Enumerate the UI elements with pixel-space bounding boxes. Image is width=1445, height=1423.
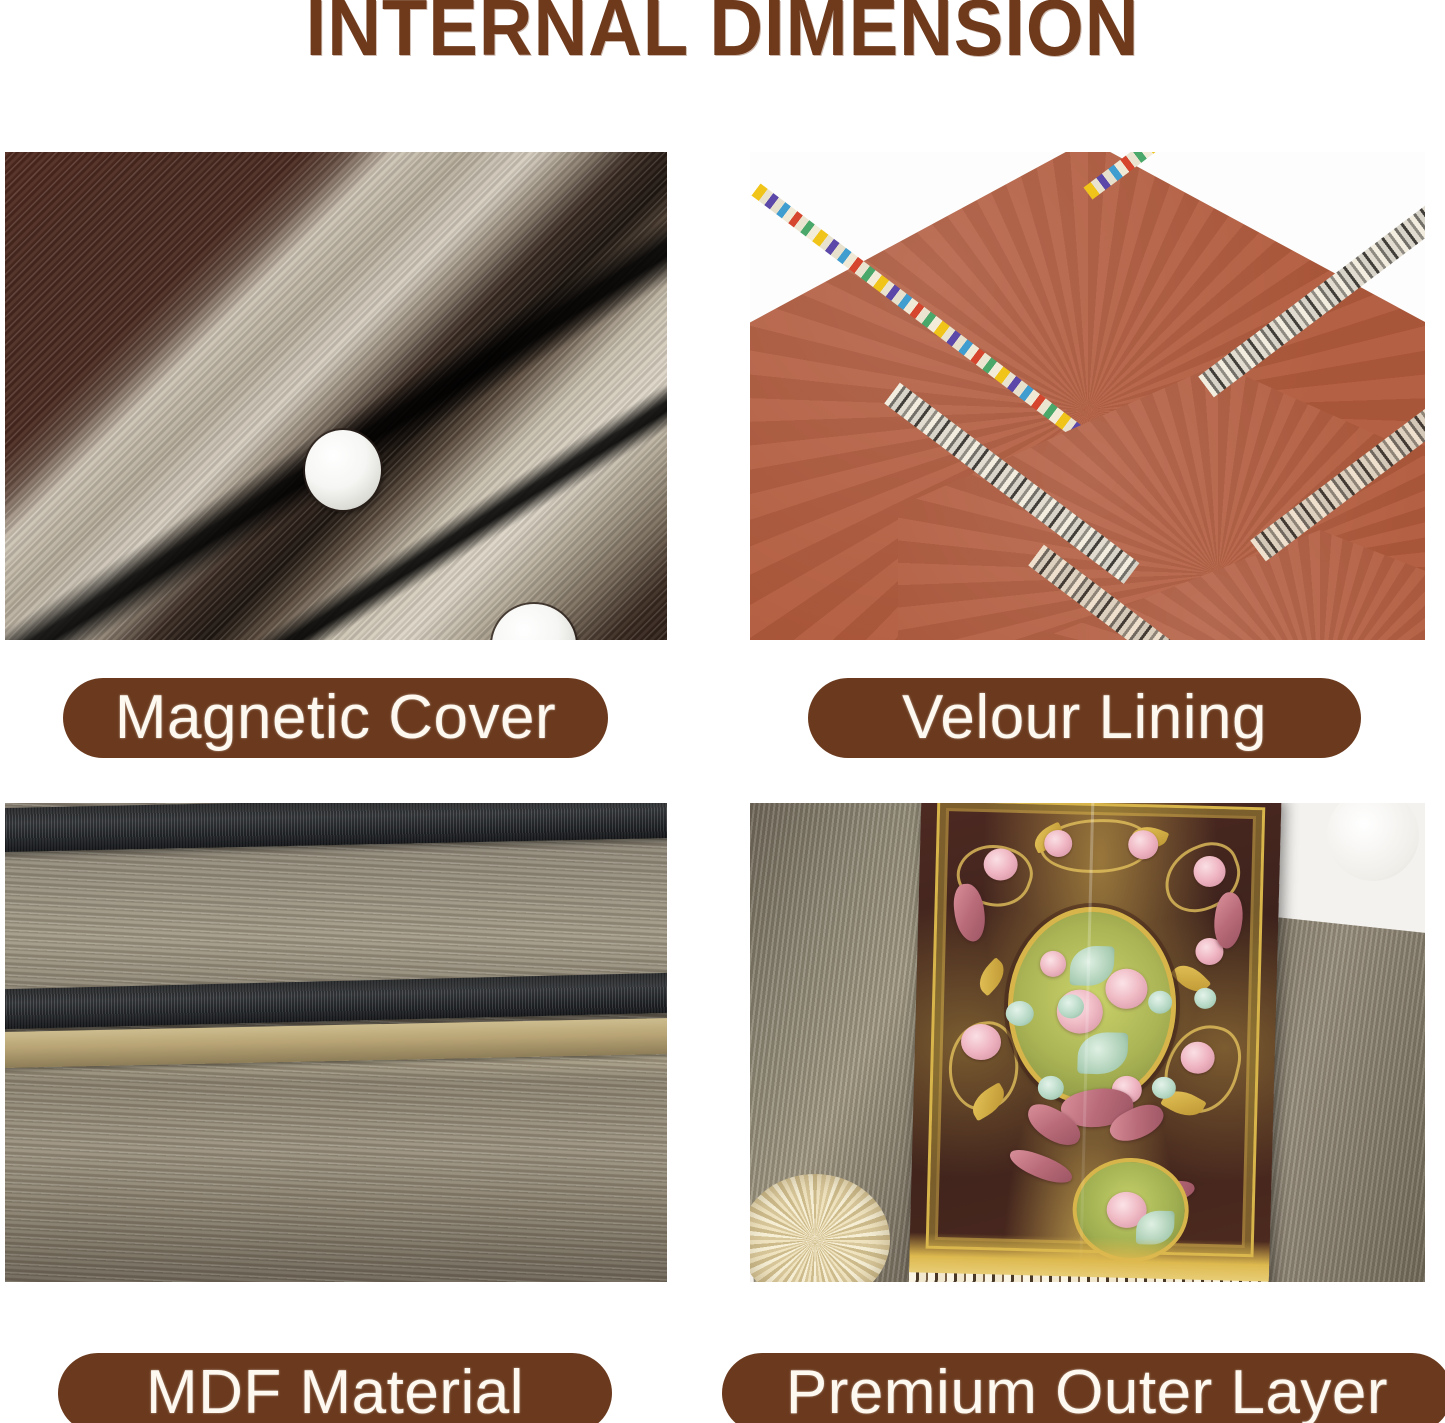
rose-motif [1040,951,1067,978]
feature-label-velour-lining: Velour Lining [808,678,1361,758]
feature-photo-magnetic-cover [5,152,667,640]
mdf-material-photo [5,803,667,1282]
rose-motif [1105,968,1148,1009]
magnetic-cover-photo [5,152,667,640]
feature-photo-velour-lining [750,152,1425,640]
feature-photo-outer-layer [750,803,1425,1282]
magnet-disc-icon [305,430,381,510]
outer-layer-photo [750,803,1425,1282]
ornate-book-cover [908,803,1281,1282]
feature-photo-mdf-material [5,803,667,1282]
feature-label-mdf-material: MDF Material [58,1353,612,1423]
feature-label-magnetic-cover: Magnetic Cover [63,678,608,758]
page-title: INTERNAL DIMENSION [51,0,1395,76]
feature-label-outer-layer: Premium Outer Layer [722,1353,1445,1423]
velour-lining-photo [750,152,1425,640]
